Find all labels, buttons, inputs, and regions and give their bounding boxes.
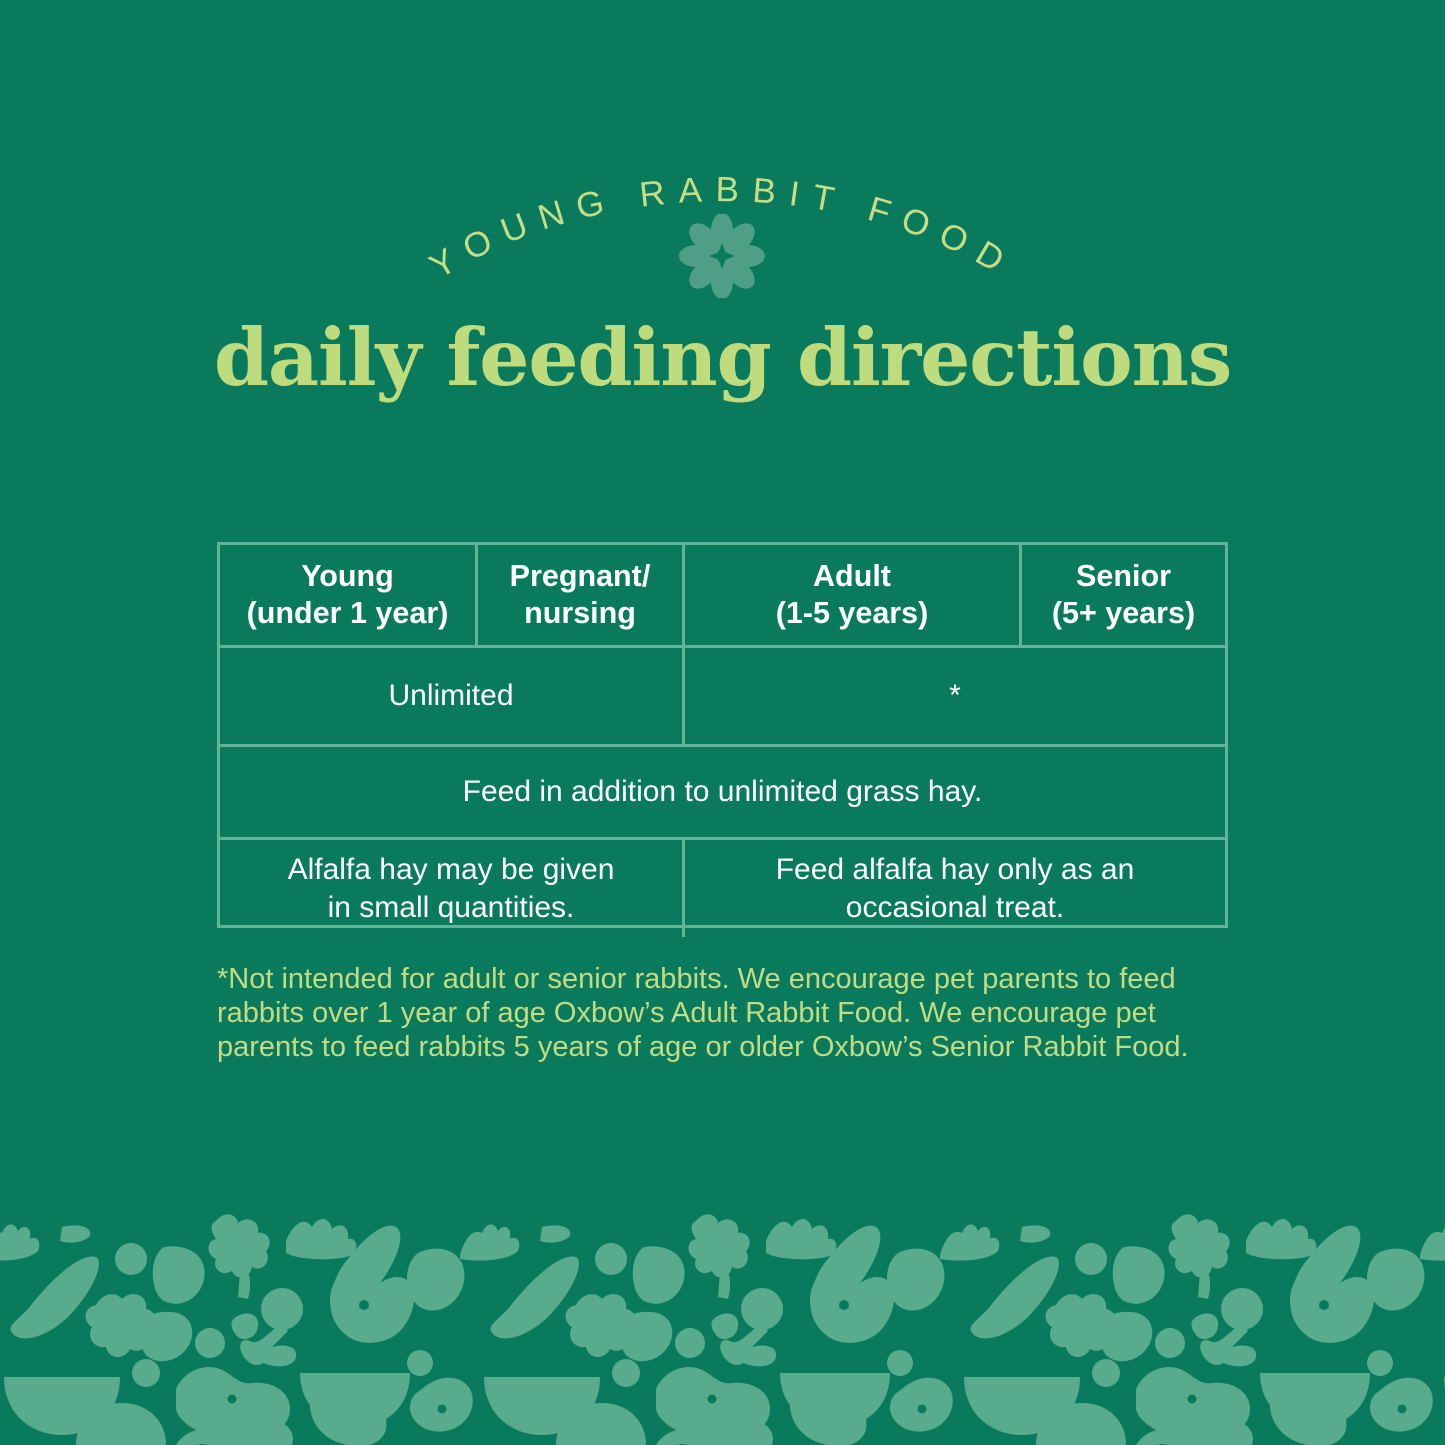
table-grasshay-row: Feed in addition to unlimited grass hay. bbox=[220, 744, 1225, 837]
table-header-young-line1: Young bbox=[301, 559, 394, 593]
table-header-senior-line1: Senior bbox=[1076, 559, 1171, 593]
table-alfalfa-row: Alfalfa hay may be given in small quanti… bbox=[220, 837, 1225, 937]
table-header-row: Young (under 1 year) Pregnant/ nursing A… bbox=[220, 545, 1225, 645]
table-header-senior: Senior (5+ years) bbox=[1019, 545, 1225, 645]
table-header-adult-line2: (1-5 years) bbox=[776, 596, 929, 630]
table-header-young-line2: (under 1 year) bbox=[247, 596, 449, 630]
table-cell-unlimited: Unlimited bbox=[220, 648, 682, 744]
table-header-senior-line2: (5+ years) bbox=[1052, 596, 1195, 630]
table-header-adult-line1: Adult bbox=[813, 559, 891, 593]
table-header-pregnant-line1: Pregnant/ bbox=[510, 559, 651, 593]
table-cell-alfalfa-treat-line2: occasional treat. bbox=[846, 891, 1064, 924]
table-cell-alfalfa-treat-line1: Feed alfalfa hay only as an bbox=[776, 853, 1135, 886]
table-header-pregnant: Pregnant/ nursing bbox=[475, 545, 682, 645]
table-header-young: Young (under 1 year) bbox=[220, 545, 475, 645]
table-cell-grass-hay-note: Feed in addition to unlimited grass hay. bbox=[220, 747, 1225, 837]
table-header-adult: Adult (1-5 years) bbox=[682, 545, 1019, 645]
table-cell-alfalfa-treat: Feed alfalfa hay only as an occasional t… bbox=[682, 840, 1225, 937]
table-cell-asterisk: * bbox=[682, 648, 1225, 744]
table-amount-row: Unlimited * bbox=[220, 645, 1225, 744]
table-cell-alfalfa-small: Alfalfa hay may be given in small quanti… bbox=[220, 840, 682, 937]
table-header-pregnant-line2: nursing bbox=[524, 596, 636, 630]
footnote-text: *Not intended for adult or senior rabbit… bbox=[217, 963, 1229, 1065]
page-title: daily feeding directions bbox=[0, 318, 1445, 397]
table-cell-alfalfa-small-line2: in small quantities. bbox=[328, 891, 575, 924]
rosette-flower-svg bbox=[672, 214, 772, 298]
feeding-directions-panel: YOUNG RABBIT FOOD bbox=[0, 0, 1445, 1445]
decorative-pattern-band bbox=[0, 1213, 1445, 1445]
table-cell-alfalfa-small-line1: Alfalfa hay may be given bbox=[288, 853, 615, 886]
rosette-flower-icon bbox=[672, 214, 772, 298]
decorative-pattern-svg bbox=[0, 1213, 1445, 1445]
feeding-table: Young (under 1 year) Pregnant/ nursing A… bbox=[217, 542, 1228, 928]
